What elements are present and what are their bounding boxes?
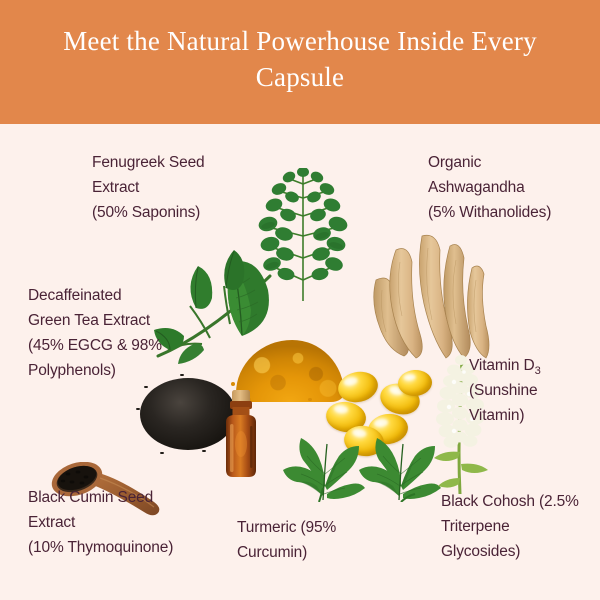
ingredient-label-green-tea: Decaffeinated Green Tea Extract (45% EGC… [28,283,188,383]
ingredient-label-fenugreek: Fenugreek Seed Extract (50% Saponins) [92,150,242,225]
vitamin-d3-line2: (Sunshine [469,382,537,399]
ingredient-label-ashwagandha: Organic Ashwagandha (5% Withanolides) [428,150,588,225]
ingredient-label-black-cumin: Black Cumin Seed Extract (10% Thymoquino… [28,485,198,560]
page-title: Meet the Natural Powerhouse Inside Every… [26,24,574,95]
infographic-page: Meet the Natural Powerhouse Inside Every… [0,0,600,600]
ingredient-label-black-cohosh: Black Cohosh (2.5% Triterpene Glycosides… [441,489,600,564]
vitamin-d3-name: Vitamin D [469,357,535,374]
ingredient-label-turmeric: Turmeric (95% Curcumin) [237,515,367,565]
amber-oil-bottle-icon [218,390,264,478]
vitamin-d3-line3: Vitamin) [469,407,524,424]
ingredient-label-vitamin-d3: Vitamin D3(SunshineVitamin) [469,353,589,428]
ashwagandha-root-icon [366,228,494,363]
vitamin-d3-subscript: 3 [535,365,541,377]
header-banner: Meet the Natural Powerhouse Inside Every… [0,0,600,124]
turmeric-leaf-icon [279,424,365,502]
